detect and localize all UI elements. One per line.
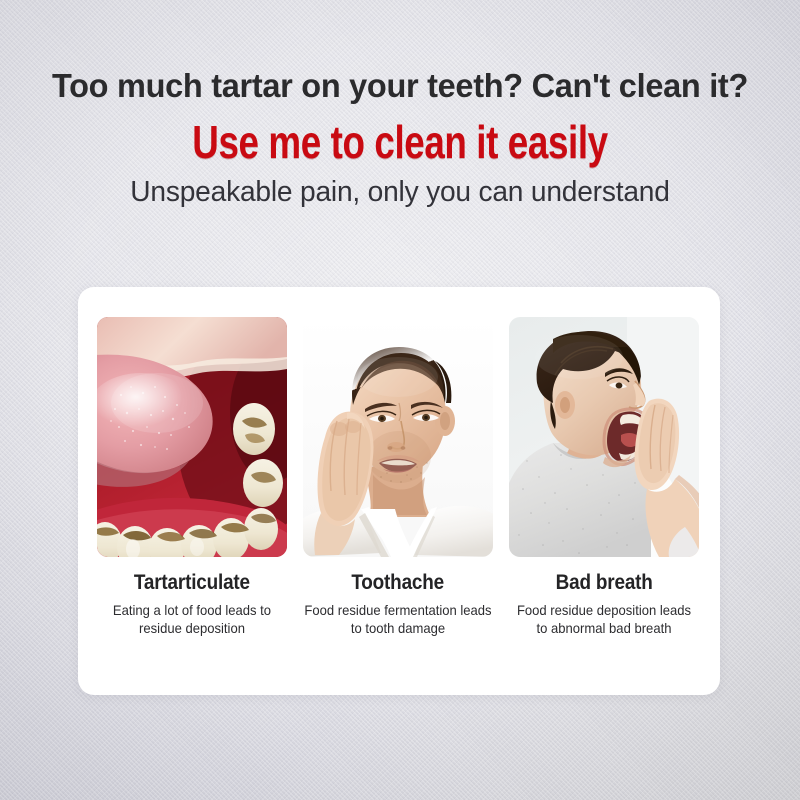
problem-column-tartar: Tartarticulate Eating a lot of food lead… <box>97 317 287 637</box>
mouth-tartar-closeup-photo <box>97 317 287 557</box>
product-advertisement-poster: Too much tartar on your teeth? Can't cle… <box>0 0 800 800</box>
man-checking-breath-photo <box>509 317 699 557</box>
problem-title: Toothache <box>352 570 445 595</box>
problem-description: Eating a lot of food leads to residue de… <box>98 602 286 637</box>
problem-title: Bad breath <box>555 570 652 595</box>
headline-promise: Use me to clean it easily <box>80 115 720 169</box>
man-holding-cheek-toothache-photo <box>303 317 493 557</box>
headline-question: Too much tartar on your teeth? Can't cle… <box>12 68 788 106</box>
problem-description: Food residue fermentation leads to tooth… <box>304 602 492 637</box>
problem-title: Tartarticulate <box>134 570 250 595</box>
problems-column-list: Tartarticulate Eating a lot of food lead… <box>97 317 701 637</box>
problem-description: Food residue deposition leads to abnorma… <box>510 602 698 637</box>
headline-subtitle: Unspeakable pain, only you can understan… <box>12 176 788 209</box>
problems-card: Tartarticulate Eating a lot of food lead… <box>78 287 720 695</box>
problem-column-bad-breath: Bad breath Food residue deposition leads… <box>509 317 699 637</box>
problem-column-toothache: Toothache Food residue fermentation lead… <box>303 317 493 637</box>
